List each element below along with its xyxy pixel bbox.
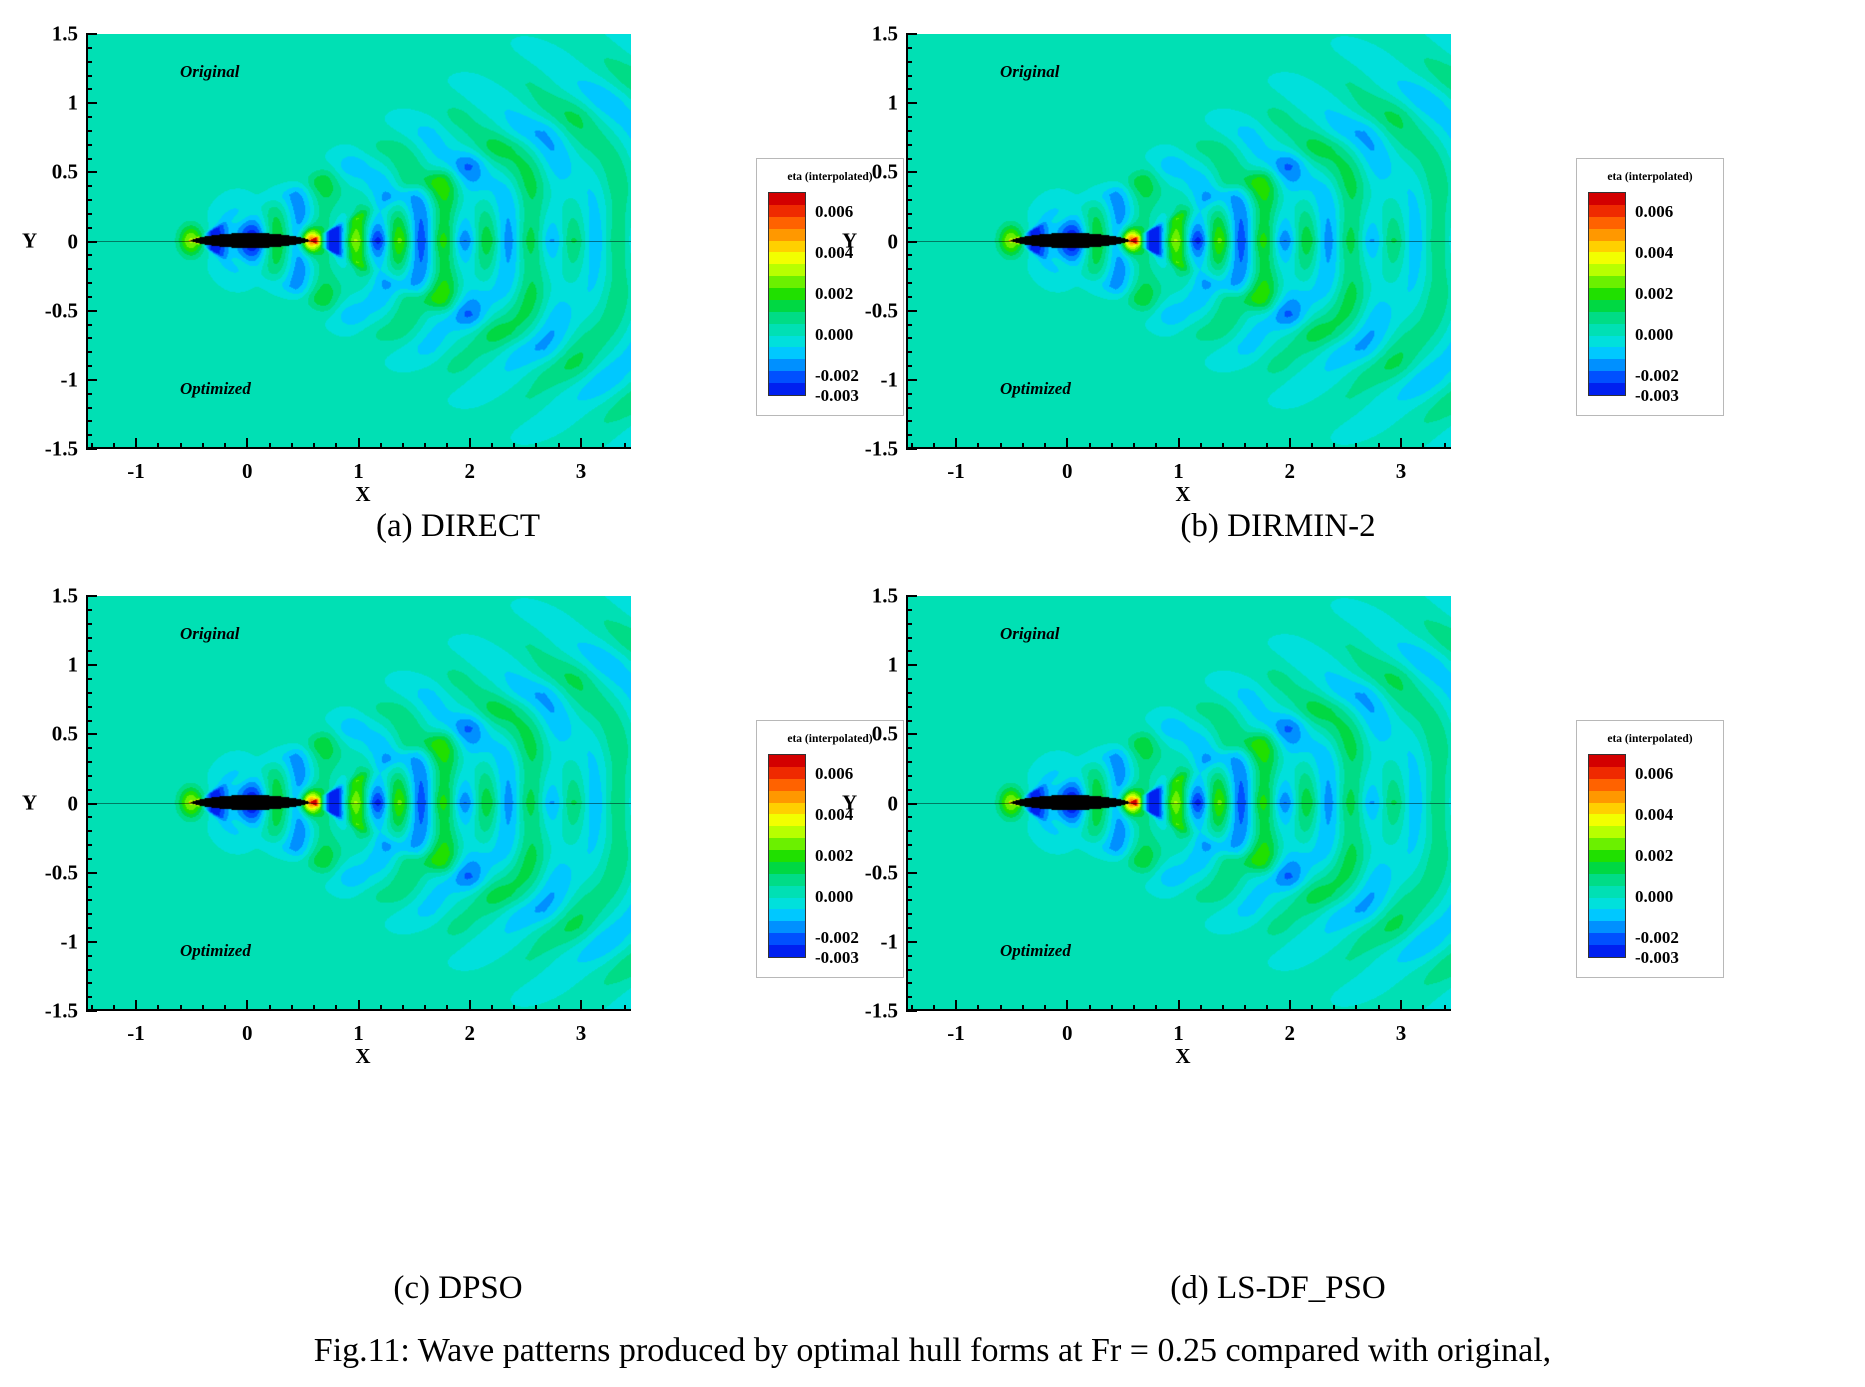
x-minor-tick [911, 1005, 913, 1011]
x-minor-tick [1355, 1005, 1357, 1011]
y-minor-tick [86, 158, 92, 160]
x-minor-tick [1111, 1005, 1113, 1011]
y-minor-tick [86, 130, 92, 132]
x-minor-tick [933, 443, 935, 449]
annotation-original: Original [1000, 624, 1060, 644]
y-minor-tick [906, 61, 912, 63]
colorbar-segment [1589, 383, 1625, 395]
colorbar-tick-label: 0.006 [1635, 202, 1673, 222]
y-minor-tick [906, 941, 912, 943]
y-tick-label: -1.5 [865, 437, 898, 462]
colorbar-segment [1589, 874, 1625, 886]
x-minor-tick [1311, 443, 1313, 449]
x-tick-mark [246, 438, 248, 449]
x-tick-mark [955, 438, 957, 449]
x-minor-tick [1378, 443, 1380, 449]
y-minor-tick [906, 407, 912, 409]
x-tick-mark [1066, 1000, 1068, 1011]
y-minor-tick [86, 213, 92, 215]
y-minor-tick [906, 982, 912, 984]
x-minor-tick [335, 443, 337, 449]
colorbar-segment [769, 874, 805, 886]
x-minor-tick [1266, 1005, 1268, 1011]
x-minor-tick [180, 1005, 182, 1011]
y-tick-mark [86, 664, 97, 666]
colorbar-legend-b: eta (interpolated) 0.0060.0040.0020.000-… [1576, 158, 1724, 416]
colorbar-segment [769, 241, 805, 253]
colorbar-segment [1589, 205, 1625, 217]
plot-area-b: Original Optimized [906, 34, 1451, 449]
x-minor-tick [1444, 443, 1446, 449]
x-minor-tick [402, 1005, 404, 1011]
colorbar-segment [769, 933, 805, 945]
y-axis-label: Y [22, 229, 37, 254]
colorbar-gradient [768, 754, 806, 958]
colorbar-segment [1589, 359, 1625, 371]
x-tick-label: 3 [576, 459, 587, 484]
y-minor-tick [906, 692, 912, 694]
y-minor-tick [906, 310, 912, 312]
x-tick-mark [1178, 1000, 1180, 1011]
y-minor-tick [86, 637, 92, 639]
colorbar-segment [1589, 826, 1625, 838]
x-tick-mark [469, 438, 471, 449]
y-tick-label: 1.5 [52, 584, 78, 609]
colorbar-segment [1589, 850, 1625, 862]
y-minor-tick [86, 650, 92, 652]
y-minor-tick [906, 199, 912, 201]
x-tick-mark [955, 1000, 957, 1011]
y-minor-tick [86, 282, 92, 284]
colorbar-segment [1589, 264, 1625, 276]
x-minor-tick [291, 443, 293, 449]
colorbar-tick-labels: 0.0060.0040.0020.000-0.002-0.003 [1635, 754, 1723, 958]
colorbar-segment [1589, 838, 1625, 850]
y-minor-tick [86, 955, 92, 957]
y-minor-tick [906, 158, 912, 160]
y-minor-tick [906, 858, 912, 860]
y-minor-tick [86, 254, 92, 256]
y-tick-label: 0.5 [872, 160, 898, 185]
colorbar-segment [769, 814, 805, 826]
colorbar-segment [769, 909, 805, 921]
colorbar-segment [1589, 229, 1625, 241]
y-minor-tick [906, 365, 912, 367]
centerline [88, 803, 631, 804]
y-minor-tick [906, 75, 912, 77]
subplot-caption-c: (c) DPSO [8, 1270, 908, 1307]
x-tick-mark [358, 438, 360, 449]
y-minor-tick [906, 324, 912, 326]
y-tick-label: -1 [61, 367, 79, 392]
x-minor-tick [1155, 443, 1157, 449]
colorbar-segment [1589, 324, 1625, 336]
x-minor-tick [624, 443, 626, 449]
colorbar-tick-label: -0.003 [1635, 948, 1679, 968]
panel-b: Original Optimized 1.510.50-0.5-1-1.5 -1… [828, 8, 1728, 588]
x-tick-mark [358, 1000, 360, 1011]
y-minor-tick [86, 365, 92, 367]
y-minor-tick [906, 213, 912, 215]
x-minor-tick [269, 1005, 271, 1011]
y-minor-tick [906, 144, 912, 146]
x-minor-tick [1044, 443, 1046, 449]
y-minor-tick [906, 130, 912, 132]
y-minor-tick [86, 61, 92, 63]
colorbar-segment [769, 217, 805, 229]
x-minor-tick [977, 443, 979, 449]
y-minor-tick [86, 420, 92, 422]
y-tick-label: 0 [68, 791, 79, 816]
colorbar-segment [1589, 862, 1625, 874]
y-minor-tick [906, 268, 912, 270]
x-minor-tick [491, 1005, 493, 1011]
x-tick-mark [580, 438, 582, 449]
y-minor-tick [86, 337, 92, 339]
y-tick-mark [906, 33, 917, 35]
y-minor-tick [86, 268, 92, 270]
x-minor-tick [202, 443, 204, 449]
y-minor-tick [906, 227, 912, 229]
colorbar-tick-label: 0.004 [1635, 243, 1673, 263]
y-minor-tick [86, 296, 92, 298]
x-minor-tick [513, 1005, 515, 1011]
colorbar-segment [1589, 371, 1625, 383]
colorbar-gradient [1588, 754, 1626, 958]
y-minor-tick [86, 407, 92, 409]
x-minor-tick [1311, 1005, 1313, 1011]
colorbar-segment [769, 229, 805, 241]
y-minor-tick [86, 844, 92, 846]
colorbar-segment [769, 755, 805, 767]
y-minor-tick [906, 185, 912, 187]
x-tick-mark [135, 1000, 137, 1011]
y-minor-tick [906, 609, 912, 611]
colorbar-segment [1589, 791, 1625, 803]
y-minor-tick [86, 996, 92, 998]
y-minor-tick [86, 706, 92, 708]
y-tick-label: -0.5 [865, 860, 898, 885]
y-minor-tick [906, 886, 912, 888]
x-tick-mark [135, 438, 137, 449]
y-minor-tick [906, 434, 912, 436]
x-minor-tick [424, 443, 426, 449]
x-tick-mark [469, 1000, 471, 1011]
y-minor-tick [86, 310, 92, 312]
x-tick-label: 1 [353, 459, 364, 484]
y-minor-tick [906, 996, 912, 998]
x-minor-tick [1244, 1005, 1246, 1011]
x-minor-tick [224, 1005, 226, 1011]
y-minor-tick [86, 761, 92, 763]
x-minor-tick [624, 1005, 626, 1011]
x-minor-tick [1089, 443, 1091, 449]
y-tick-label: -0.5 [45, 860, 78, 885]
x-minor-tick [1133, 1005, 1135, 1011]
y-minor-tick [906, 650, 912, 652]
x-tick-label: -1 [947, 1021, 965, 1046]
annotation-original: Original [180, 624, 240, 644]
panel-a: Original Optimized 1.510.50-0.5-1-1.5 -1… [8, 8, 908, 588]
y-tick-label: -1.5 [45, 437, 78, 462]
x-minor-tick [1133, 443, 1135, 449]
x-minor-tick [1244, 443, 1246, 449]
centerline [88, 241, 631, 242]
x-minor-tick [1222, 443, 1224, 449]
y-tick-label: -1.5 [865, 999, 898, 1024]
colorbar-legend-d: eta (interpolated) 0.0060.0040.0020.000-… [1576, 720, 1724, 978]
colorbar-segment [769, 838, 805, 850]
colorbar-segment [769, 383, 805, 395]
x-minor-tick [1355, 443, 1357, 449]
x-tick-label: 3 [1396, 459, 1407, 484]
x-minor-tick [1222, 1005, 1224, 1011]
colorbar-segment [1589, 767, 1625, 779]
colorbar-tick-label: -0.002 [1635, 366, 1679, 386]
colorbar-tick-label: 0.006 [1635, 764, 1673, 784]
y-tick-label: -1.5 [45, 999, 78, 1024]
y-minor-tick [906, 379, 912, 381]
colorbar-segment [1589, 921, 1625, 933]
x-minor-tick [513, 443, 515, 449]
y-tick-mark [906, 171, 917, 173]
colorbar-tick-label: 0.000 [1635, 325, 1673, 345]
x-minor-tick [113, 443, 115, 449]
colorbar-segment [1589, 909, 1625, 921]
x-tick-mark [580, 1000, 582, 1011]
x-minor-tick [91, 1005, 93, 1011]
y-minor-tick [86, 379, 92, 381]
y-minor-tick [86, 747, 92, 749]
y-tick-mark [906, 595, 917, 597]
y-minor-tick [86, 393, 92, 395]
y-axis-label: Y [842, 791, 857, 816]
y-minor-tick [906, 789, 912, 791]
x-minor-tick [446, 1005, 448, 1011]
colorbar-segment [1589, 217, 1625, 229]
x-minor-tick [1333, 1005, 1335, 1011]
panel-c: Original Optimized 1.510.50-0.5-1-1.5 -1… [8, 570, 908, 1150]
x-minor-tick [380, 443, 382, 449]
y-tick-mark [906, 803, 917, 805]
x-minor-tick [1378, 1005, 1380, 1011]
y-minor-tick [906, 623, 912, 625]
y-minor-tick [86, 324, 92, 326]
colorbar-segment [1589, 300, 1625, 312]
x-axis-label: X [355, 1044, 370, 1069]
y-minor-tick [86, 720, 92, 722]
x-minor-tick [1422, 1005, 1424, 1011]
x-tick-mark [1178, 438, 1180, 449]
x-axis-label: X [1175, 482, 1190, 507]
x-axis-label: X [355, 482, 370, 507]
y-minor-tick [906, 116, 912, 118]
y-axis-label: Y [842, 229, 857, 254]
annotation-original: Original [1000, 62, 1060, 82]
y-minor-tick [86, 830, 92, 832]
x-minor-tick [1155, 1005, 1157, 1011]
y-minor-tick [906, 844, 912, 846]
x-tick-label: 0 [242, 1021, 253, 1046]
x-minor-tick [113, 1005, 115, 1011]
x-minor-tick [157, 443, 159, 449]
y-tick-label: -1 [61, 929, 79, 954]
x-minor-tick [535, 443, 537, 449]
colorbar-segment [769, 288, 805, 300]
x-minor-tick [491, 443, 493, 449]
colorbar-segment [1589, 945, 1625, 957]
y-tick-label: 0.5 [52, 160, 78, 185]
x-tick-label: 3 [576, 1021, 587, 1046]
y-minor-tick [906, 830, 912, 832]
x-tick-label: 0 [1062, 1021, 1073, 1046]
x-minor-tick [1111, 443, 1113, 449]
x-tick-mark [1289, 1000, 1291, 1011]
x-minor-tick [446, 443, 448, 449]
y-minor-tick [86, 899, 92, 901]
y-minor-tick [86, 941, 92, 943]
annotation-optimized: Optimized [1000, 941, 1071, 961]
colorbar-segment [1589, 312, 1625, 324]
x-minor-tick [535, 1005, 537, 1011]
y-minor-tick [906, 393, 912, 395]
y-minor-tick [86, 609, 92, 611]
x-minor-tick [1000, 1005, 1002, 1011]
y-tick-label: -1 [881, 367, 899, 392]
x-minor-tick [1022, 1005, 1024, 1011]
y-tick-label: 0.5 [872, 722, 898, 747]
colorbar-segment [769, 886, 805, 898]
x-minor-tick [1333, 443, 1335, 449]
annotation-original: Original [180, 62, 240, 82]
y-minor-tick [906, 955, 912, 957]
y-minor-tick [86, 88, 92, 90]
y-minor-tick [906, 747, 912, 749]
y-minor-tick [906, 678, 912, 680]
colorbar-segment [1589, 288, 1625, 300]
y-minor-tick [906, 899, 912, 901]
x-minor-tick [977, 1005, 979, 1011]
y-tick-label: 1 [888, 653, 899, 678]
y-minor-tick [906, 969, 912, 971]
y-minor-tick [86, 185, 92, 187]
x-tick-mark [1066, 438, 1068, 449]
colorbar-segment [1589, 276, 1625, 288]
x-tick-label: 1 [353, 1021, 364, 1046]
y-tick-mark [906, 102, 917, 104]
colorbar-tick-label: 0.002 [1635, 284, 1673, 304]
y-minor-tick [906, 761, 912, 763]
y-minor-tick [906, 88, 912, 90]
colorbar-tick-label: -0.003 [1635, 386, 1679, 406]
x-minor-tick [558, 1005, 560, 1011]
colorbar-tick-label: 0.004 [1635, 805, 1673, 825]
colorbar-segment [1589, 779, 1625, 791]
colorbar-segment [769, 324, 805, 336]
y-tick-mark [86, 595, 97, 597]
colorbar-segment [769, 347, 805, 359]
y-minor-tick [86, 913, 92, 915]
colorbar-segment [1589, 898, 1625, 910]
y-tick-mark [86, 241, 97, 243]
colorbar-segment [769, 300, 805, 312]
x-minor-tick [558, 443, 560, 449]
subplot-caption-a: (a) DIRECT [8, 508, 908, 545]
y-minor-tick [86, 144, 92, 146]
colorbar-segment [769, 862, 805, 874]
x-minor-tick [313, 1005, 315, 1011]
x-tick-label: 0 [1062, 459, 1073, 484]
y-minor-tick [86, 858, 92, 860]
x-minor-tick [157, 1005, 159, 1011]
x-minor-tick [180, 443, 182, 449]
x-tick-label: 2 [1284, 459, 1295, 484]
figure-caption: Fig.11: Wave patterns produced by optima… [0, 1332, 1865, 1370]
colorbar-tick-labels: 0.0060.0040.0020.000-0.002-0.003 [1635, 192, 1723, 396]
colorbar-segment [1589, 886, 1625, 898]
colorbar-gradient [1588, 192, 1626, 396]
y-axis-label: Y [22, 791, 37, 816]
y-minor-tick [906, 775, 912, 777]
y-tick-mark [86, 733, 97, 735]
y-minor-tick [86, 872, 92, 874]
x-minor-tick [402, 443, 404, 449]
x-tick-label: -1 [947, 459, 965, 484]
colorbar-segment [769, 312, 805, 324]
x-tick-label: 0 [242, 459, 253, 484]
y-tick-label: 0 [888, 229, 899, 254]
colorbar-segment [1589, 347, 1625, 359]
y-minor-tick [906, 720, 912, 722]
y-tick-mark [906, 664, 917, 666]
y-tick-mark [906, 733, 917, 735]
colorbar-segment [769, 945, 805, 957]
y-tick-label: 1.5 [52, 22, 78, 47]
plot-area-c: Original Optimized [86, 596, 631, 1011]
y-tick-mark [86, 803, 97, 805]
annotation-optimized: Optimized [180, 379, 251, 399]
colorbar-segment [1589, 814, 1625, 826]
y-minor-tick [86, 692, 92, 694]
x-tick-mark [1289, 438, 1291, 449]
y-tick-label: 1 [68, 91, 79, 116]
x-tick-label: 1 [1173, 1021, 1184, 1046]
colorbar-segment [769, 791, 805, 803]
colorbar-segment [1589, 193, 1625, 205]
y-minor-tick [86, 116, 92, 118]
colorbar-segment [769, 898, 805, 910]
x-minor-tick [933, 1005, 935, 1011]
subplot-caption-d: (d) LS-DF_PSO [828, 1270, 1728, 1307]
y-minor-tick [86, 199, 92, 201]
plot-area-a: Original Optimized [86, 34, 631, 449]
y-tick-label: 1 [68, 653, 79, 678]
x-tick-label: 1 [1173, 459, 1184, 484]
x-minor-tick [911, 443, 913, 449]
y-tick-label: -1 [881, 929, 899, 954]
colorbar-segment [1589, 336, 1625, 348]
x-minor-tick [1200, 443, 1202, 449]
colorbar-segment [1589, 241, 1625, 253]
y-minor-tick [906, 913, 912, 915]
plot-area-d: Original Optimized [906, 596, 1451, 1011]
y-minor-tick [906, 816, 912, 818]
y-minor-tick [906, 47, 912, 49]
y-tick-label: 1.5 [872, 584, 898, 609]
y-tick-mark [86, 171, 97, 173]
colorbar-segment [1589, 933, 1625, 945]
colorbar-title: eta (interpolated) [1577, 171, 1723, 183]
